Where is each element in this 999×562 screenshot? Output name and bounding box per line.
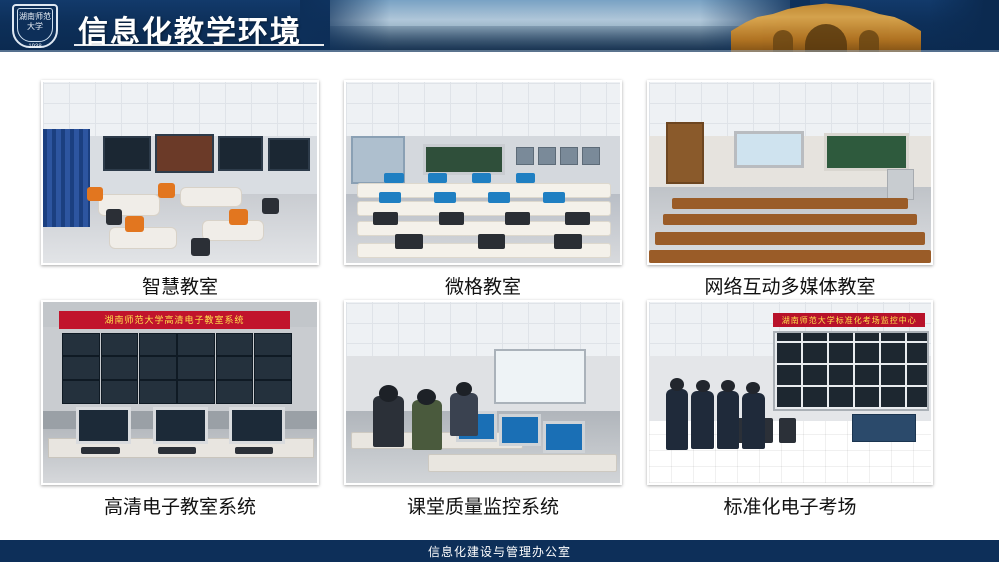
keyboard: [81, 447, 119, 454]
grid-cell-5: 课堂质量监控系统: [344, 300, 622, 530]
photo-micro-teaching-classroom: [344, 80, 622, 265]
seated-person: [450, 393, 477, 436]
operator-monitor: [153, 407, 208, 444]
photo-network-multimedia-classroom: [647, 80, 933, 265]
seat-dark: [565, 212, 590, 225]
scene-exam-monitoring-center: 湖南师范大学标准化考场监控中心: [649, 302, 931, 483]
video-wall-tile: [101, 333, 139, 357]
chalkboard: [824, 133, 909, 172]
video-wall-tile: [216, 380, 254, 404]
window-curtain: [43, 129, 90, 227]
ceiling: [346, 82, 620, 144]
video-wall-tile: [254, 380, 292, 404]
caption-6: 标准化电子考场: [647, 492, 933, 519]
video-wall-tile: [62, 356, 100, 380]
video-wall-tile: [216, 356, 254, 380]
video-wall-tile: [254, 356, 292, 380]
display-screen-1: [103, 136, 151, 171]
wall-picture: [582, 147, 600, 165]
standing-person: [742, 393, 765, 449]
lectern: [887, 169, 914, 200]
photo-smart-classroom: [41, 80, 319, 265]
video-wall-tile: [62, 380, 100, 404]
scene-hd-control-room: 湖南师范大学高清电子教室系统: [43, 302, 317, 483]
arch-opening-right: [859, 30, 879, 52]
seat-dark: [505, 212, 530, 225]
monitoring-video-wall: [773, 331, 929, 411]
operator-monitor: [229, 407, 284, 444]
logo-org-name: 湖南师范大学: [18, 12, 52, 32]
keyboard: [235, 447, 273, 454]
monitor: [499, 414, 541, 445]
room-banner-text: 湖南师范大学高清电子教室系统: [59, 311, 289, 329]
video-wall-tile: [139, 333, 177, 357]
video-wall-tile: [101, 380, 139, 404]
photo-hd-electronic-classroom: 湖南师范大学高清电子教室系统: [41, 300, 319, 485]
display-screen-4: [268, 138, 310, 171]
room-banner-text: 湖南师范大学标准化考场监控中心: [773, 313, 925, 327]
display-screen-3: [218, 136, 263, 171]
standing-person: [691, 391, 714, 449]
scene-smart-classroom: [43, 82, 317, 263]
monitor: [543, 421, 585, 452]
chair: [158, 183, 174, 197]
video-wall-tile: [139, 380, 177, 404]
caption-4: 高清电子教室系统: [41, 492, 319, 519]
seat-dark: [554, 234, 581, 248]
caption-1: 智慧教室: [41, 272, 319, 299]
chair-dark: [106, 209, 122, 225]
grid-cell-1: 智慧教室: [41, 80, 319, 310]
university-logo: 湖南师范大学 1938: [12, 4, 58, 48]
chalkboard: [423, 144, 506, 175]
video-wall-tile: [216, 333, 254, 357]
caption-5: 课堂质量监控系统: [344, 492, 622, 519]
wall-picture: [538, 147, 556, 165]
arch-opening-center: [805, 24, 847, 52]
video-wall-tile: [101, 356, 139, 380]
grid-cell-6: 湖南师范大学标准化考场监控中心 标准化电子考场: [647, 300, 933, 530]
seat-dark: [439, 212, 464, 225]
scene-quality-monitoring: [346, 302, 620, 483]
person-head: [696, 380, 710, 393]
group-table-2: [180, 187, 242, 207]
seat: [472, 173, 491, 184]
seat-dark: [395, 234, 422, 248]
wall-picture: [516, 147, 534, 165]
seat: [428, 173, 447, 184]
projection-screen: [734, 131, 805, 168]
bench-row-3: [655, 232, 926, 245]
control-console: [852, 414, 916, 441]
scene-network-classroom: [649, 82, 931, 263]
seat: [379, 192, 401, 203]
chair: [87, 187, 103, 201]
seated-person: [412, 400, 442, 451]
standing-person: [666, 389, 689, 451]
grid-cell-2: 微格教室: [344, 80, 622, 310]
chair-dark: [262, 198, 278, 214]
seat: [516, 173, 535, 184]
slide-footer: 信息化建设与管理办公室: [0, 540, 999, 562]
header-right-cap: [929, 0, 999, 52]
video-wall-tile: [139, 356, 177, 380]
whiteboard-display: [494, 349, 586, 404]
door: [666, 122, 704, 184]
photo-classroom-quality-monitoring: [344, 300, 622, 485]
wall-picture: [560, 147, 578, 165]
grid-cell-4: 湖南师范大学高清电子教室系统: [41, 300, 319, 530]
bench-row-4: [649, 250, 931, 263]
logo-inner-text: 湖南师范大学 1938: [17, 8, 53, 42]
chair: [779, 418, 796, 443]
chair: [125, 216, 144, 232]
slide: 湖南师范大学 1938 信息化教学环境: [0, 0, 999, 562]
photo-standardized-exam-room: 湖南师范大学标准化考场监控中心: [647, 300, 933, 485]
footer-text: 信息化建设与管理办公室: [428, 543, 571, 560]
photo-grid: 智慧教室: [0, 60, 999, 540]
video-wall-tile: [177, 380, 215, 404]
person-head: [670, 378, 684, 391]
seat: [543, 192, 565, 203]
grid-cell-3: 网络互动多媒体教室: [647, 80, 933, 310]
video-wall-tile: [177, 356, 215, 380]
chair: [229, 209, 248, 225]
slide-header: 湖南师范大学 1938 信息化教学环境: [0, 0, 999, 52]
standing-person: [717, 391, 740, 449]
bench-row-1: [672, 198, 909, 209]
seat-dark: [373, 212, 398, 225]
operator-monitor: [76, 407, 131, 444]
person-head: [456, 382, 472, 396]
caption-3: 网络互动多媒体教室: [647, 272, 933, 299]
arch-opening-left: [773, 30, 793, 52]
video-wall-tile: [254, 333, 292, 357]
seat-dark: [478, 234, 505, 248]
person-head: [379, 385, 398, 401]
workstation-desk-2: [428, 454, 616, 472]
seat: [488, 192, 510, 203]
scene-micro-classroom: [346, 82, 620, 263]
seated-person: [373, 396, 403, 447]
display-screen-2: [155, 134, 214, 172]
video-wall-tile: [177, 333, 215, 357]
caption-2: 微格教室: [344, 272, 622, 299]
title-underline: [74, 44, 324, 46]
bench-row-2: [663, 214, 917, 225]
seat: [434, 192, 456, 203]
seat: [384, 173, 403, 184]
chair-dark: [191, 238, 210, 256]
video-wall-tile: [62, 333, 100, 357]
keyboard: [158, 447, 196, 454]
